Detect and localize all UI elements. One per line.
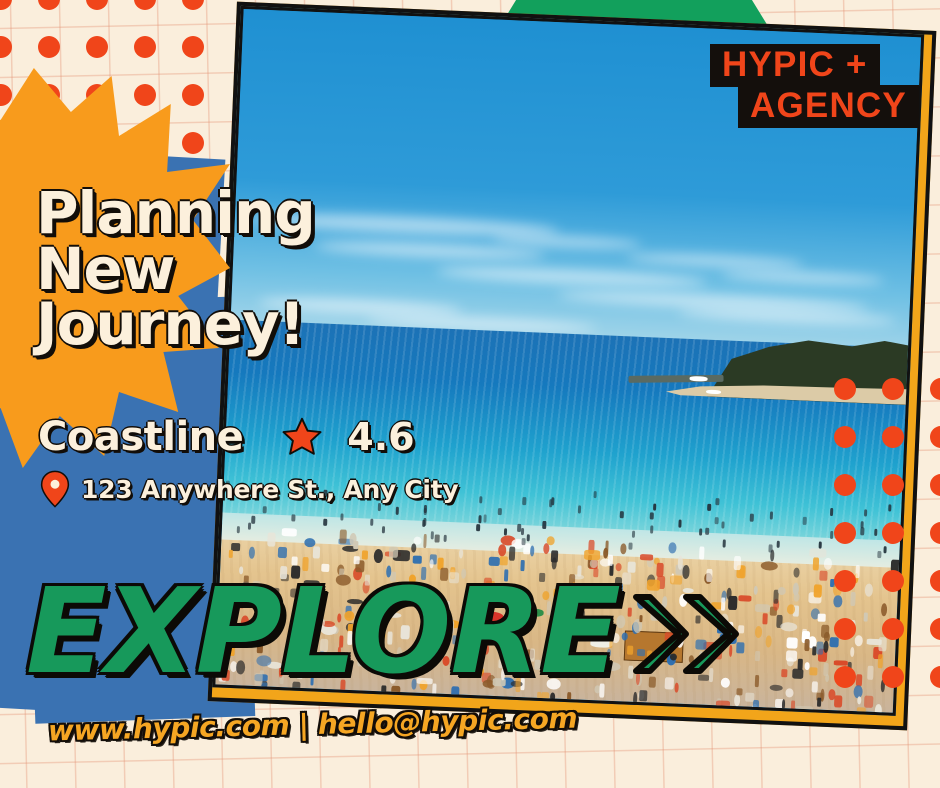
rating-value: 4.6	[347, 415, 414, 459]
star-icon	[281, 416, 323, 458]
chevron-right-icon-2	[678, 591, 740, 677]
poster-canvas: HYPIC + AGENCY Planning New Journey! Coa…	[0, 0, 940, 788]
dot-grid-right	[838, 390, 940, 690]
address-text: 123 Anywhere St., Any City	[81, 475, 458, 504]
badge-line-2: AGENCY	[738, 85, 919, 128]
headline-line-3: Journey!	[36, 297, 315, 353]
explore-label: EXPLORE	[26, 572, 620, 690]
headline-line-1: Planning	[36, 186, 315, 242]
location-pin-icon	[40, 470, 70, 508]
double-chevron-right-icon	[640, 591, 740, 677]
place-name: Coastline	[38, 414, 243, 460]
hypic-agency-badge: HYPIC + AGENCY	[710, 44, 940, 128]
page-title: Planning New Journey!	[36, 186, 315, 353]
headline-line-2: New	[36, 242, 315, 298]
address-row: 123 Anywhere St., Any City	[40, 470, 458, 508]
badge-line-1: HYPIC +	[710, 44, 880, 87]
explore-cta[interactable]: EXPLORE	[26, 572, 740, 690]
place-rating-row: Coastline 4.6	[38, 414, 415, 460]
